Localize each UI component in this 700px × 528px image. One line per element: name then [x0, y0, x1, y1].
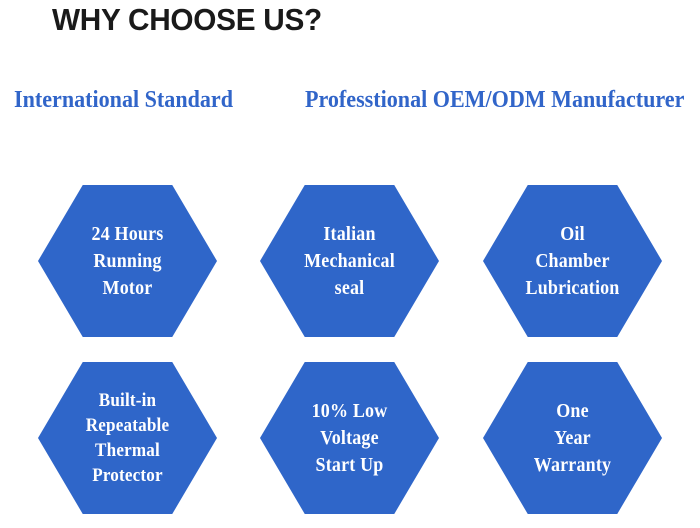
hexagon-10-percent-low-voltage-start-up: 10% Low Voltage Start Up — [260, 362, 439, 514]
hexagon-shape — [38, 362, 217, 514]
hexagon-shape — [38, 185, 217, 337]
hexagon-built-in-repeatable-thermal-protector: Built-in Repeatable Thermal Protector — [38, 362, 217, 514]
hexagon-italian-mechanical-seal: Italian Mechanical seal — [260, 185, 439, 337]
hexagon-grid: 24 Hours Running Motor Italian Mechanica… — [0, 0, 700, 528]
hexagon-shape — [260, 185, 439, 337]
hexagon-one-year-warranty: One Year Warranty — [483, 362, 662, 514]
hexagon-shape — [483, 362, 662, 514]
why-choose-us-slide: WHY CHOOSE US? International Standard Pr… — [0, 0, 700, 528]
hexagon-shape — [260, 362, 439, 514]
hexagon-shape — [483, 185, 662, 337]
hexagon-24-hours-running-motor: 24 Hours Running Motor — [38, 185, 217, 337]
hexagon-oil-chamber-lubrication: Oil Chamber Lubrication — [483, 185, 662, 337]
